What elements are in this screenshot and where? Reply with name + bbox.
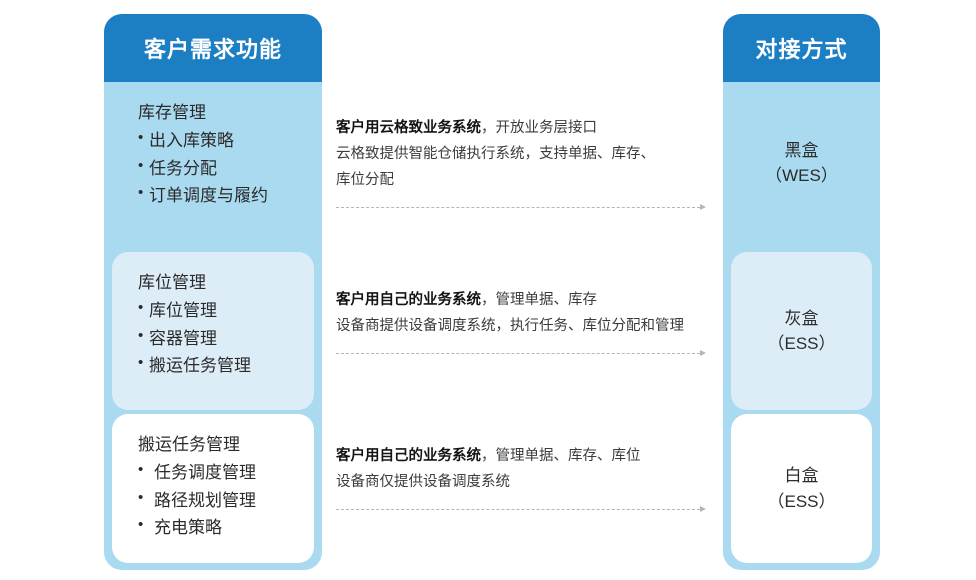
mode-card-gray-box[interactable]: 灰盒 （ESS） xyxy=(731,252,872,410)
connector-arrow-white-box xyxy=(336,506,706,514)
connector-arrow-black-box xyxy=(336,204,706,212)
description-lead: 客户用自己的业务系统 xyxy=(336,448,481,464)
mode-name: 灰盒 xyxy=(785,306,819,332)
list-item: 搬运任务管理 xyxy=(138,352,314,380)
mode-code: （WES） xyxy=(765,163,838,189)
requirement-item-list: 库位管理 容器管理 搬运任务管理 xyxy=(138,297,314,380)
description-block-gray-box: 客户用自己的业务系统，管理单据、库存 设备商提供设备调度系统，执行任务、库位分配… xyxy=(336,288,706,340)
description-lead-line: 客户用自己的业务系统，管理单据、库存 xyxy=(336,288,706,314)
requirement-card-title: 搬运任务管理 xyxy=(138,432,314,458)
mode-code: （ESS） xyxy=(767,489,835,515)
mode-code: （ESS） xyxy=(767,331,835,357)
requirement-item-list: 出入库策略 任务分配 订单调度与履约 xyxy=(138,127,314,210)
requirement-card-title: 库位管理 xyxy=(138,270,314,296)
list-item: 订单调度与履约 xyxy=(138,182,314,210)
description-lead-tail: ，管理单据、库存、库位 xyxy=(481,448,641,464)
requirement-card-location[interactable]: 库位管理 库位管理 容器管理 搬运任务管理 xyxy=(112,252,314,410)
description-lead-tail: ，开放业务层接口 xyxy=(481,120,597,136)
connector-arrowhead-icon xyxy=(700,506,706,512)
integration-mode-column: 对接方式 黑盒 （WES） 灰盒 （ESS） 白盒 （ESS） xyxy=(723,14,880,570)
right-column-header: 对接方式 xyxy=(723,14,880,82)
connector-dashed-line xyxy=(336,207,700,208)
mode-card-black-box[interactable]: 黑盒 （WES） xyxy=(731,82,872,244)
connector-dashed-line xyxy=(336,509,700,510)
description-lead-line: 客户用自己的业务系统，管理单据、库存、库位 xyxy=(336,444,706,470)
connector-arrow-gray-box xyxy=(336,350,706,358)
requirement-card-transport[interactable]: 搬运任务管理 任务调度管理 路径规划管理 充电策略 xyxy=(112,414,314,563)
description-lead: 客户用云格致业务系统 xyxy=(336,120,481,136)
list-item: 任务调度管理 xyxy=(138,459,314,487)
list-item: 容器管理 xyxy=(138,325,314,353)
requirement-item-list: 任务调度管理 路径规划管理 充电策略 xyxy=(138,459,314,542)
list-item: 出入库策略 xyxy=(138,127,314,155)
description-lead: 客户用自己的业务系统 xyxy=(336,292,481,308)
description-block-white-box: 客户用自己的业务系统，管理单据、库存、库位 设备商仅提供设备调度系统 xyxy=(336,444,706,496)
description-detail-line: 设备商提供设备调度系统，执行任务、库位分配和管理 xyxy=(336,314,706,340)
description-detail-line: 库位分配 xyxy=(336,168,706,194)
mode-name: 白盒 xyxy=(785,463,819,489)
integration-description-column: 客户用云格致业务系统，开放业务层接口 云格致提供智能仓储执行系统，支持单据、库存… xyxy=(336,0,706,580)
list-item: 路径规划管理 xyxy=(138,487,314,515)
description-lead-line: 客户用云格致业务系统，开放业务层接口 xyxy=(336,116,706,142)
description-block-black-box: 客户用云格致业务系统，开放业务层接口 云格致提供智能仓储执行系统，支持单据、库存… xyxy=(336,116,706,193)
description-detail-line: 设备商仅提供设备调度系统 xyxy=(336,470,706,496)
list-item: 库位管理 xyxy=(138,297,314,325)
left-column-header: 客户需求功能 xyxy=(104,14,322,82)
list-item: 充电策略 xyxy=(138,514,314,542)
mode-name: 黑盒 xyxy=(785,138,819,164)
connector-arrowhead-icon xyxy=(700,204,706,210)
list-item: 任务分配 xyxy=(138,155,314,183)
requirement-card-inventory[interactable]: 库存管理 出入库策略 任务分配 订单调度与履约 xyxy=(112,82,314,244)
customer-requirements-column: 客户需求功能 库存管理 出入库策略 任务分配 订单调度与履约 库位管理 库位管理… xyxy=(104,14,322,570)
mode-card-white-box[interactable]: 白盒 （ESS） xyxy=(731,414,872,563)
description-detail-line: 云格致提供智能仓储执行系统，支持单据、库存、 xyxy=(336,142,706,168)
description-lead-tail: ，管理单据、库存 xyxy=(481,292,597,308)
connector-dashed-line xyxy=(336,353,700,354)
requirement-card-title: 库存管理 xyxy=(138,100,314,126)
connector-arrowhead-icon xyxy=(700,350,706,356)
